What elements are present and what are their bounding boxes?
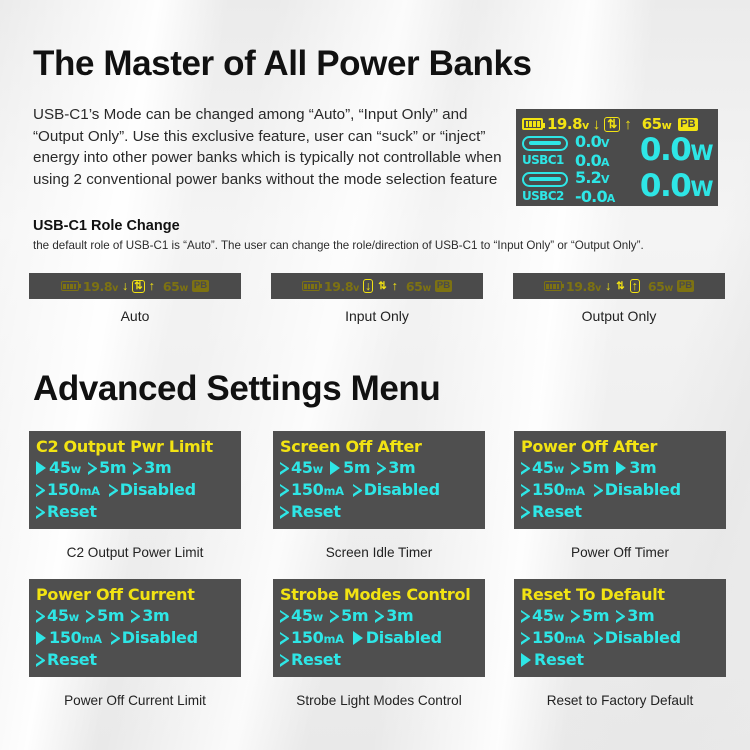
settings-caption-2: Power Off Timer	[500, 545, 740, 560]
menu-option-label: 3m	[386, 605, 413, 627]
menu-option[interactable]: 150mA	[521, 627, 585, 650]
menu-option-label: 150mA	[532, 627, 585, 650]
option-row: 45w5m3m	[280, 457, 478, 479]
menu-option[interactable]: 5m	[86, 605, 124, 627]
menu-option[interactable]: 3m	[131, 605, 169, 627]
role-watts: 65w	[406, 279, 431, 294]
menu-option[interactable]: 45w	[280, 457, 323, 480]
role-change-note: the default role of USB-C1 is “Auto”. Th…	[33, 239, 723, 252]
selected-pointer-icon	[521, 653, 531, 667]
pointer-icon	[594, 484, 602, 497]
menu-option-label: 5m	[343, 457, 370, 479]
menu-option[interactable]: 3m	[133, 457, 171, 479]
lcd-port-row-usbc1: USBC1 0.0V 0.0A 0.0W	[522, 134, 712, 170]
advanced-settings-title: Advanced Settings Menu	[33, 369, 440, 409]
menu-option[interactable]: 45w	[36, 605, 79, 628]
up-arrow-icon: ↑	[630, 279, 640, 294]
menu-option-label: 5m	[582, 457, 609, 479]
menu-option[interactable]: 150mA	[280, 479, 344, 502]
pointer-icon	[280, 632, 288, 645]
lcd-total-watts: 65w	[642, 115, 672, 133]
pointer-icon	[377, 462, 385, 475]
menu-option[interactable]: Disabled	[109, 479, 196, 501]
menu-option-label: 5m	[97, 605, 124, 627]
menu-option[interactable]: 5m	[330, 605, 368, 627]
menu-option-label: 3m	[144, 457, 171, 479]
pointer-icon	[571, 610, 579, 623]
settings-card-0[interactable]: C2 Output Pwr Limit45w5m3m150mADisabledR…	[29, 431, 241, 529]
card-option-rows: 45w5m3m150mADisabledReset	[36, 605, 234, 671]
pointer-icon	[36, 654, 44, 667]
down-arrow-icon: ↓	[593, 117, 601, 132]
pointer-icon	[36, 484, 44, 497]
option-row: 150mADisabled	[280, 479, 478, 501]
pointer-icon	[521, 506, 529, 519]
settings-card-5[interactable]: Reset To Default45w5m3m150mADisabledRese…	[514, 579, 726, 677]
option-row: 45w5m3m	[521, 457, 719, 479]
settings-caption-0: C2 Output Power Limit	[15, 545, 255, 560]
menu-option-label: 45w	[49, 457, 81, 480]
battery-icon	[61, 281, 79, 291]
menu-option[interactable]: 5m	[330, 457, 370, 479]
menu-option[interactable]: 45w	[521, 457, 564, 480]
menu-option[interactable]: 150mA	[521, 479, 585, 502]
pointer-icon	[521, 484, 529, 497]
menu-option-label: Disabled	[605, 479, 681, 501]
role-mode-label-input: Input Only	[271, 308, 483, 324]
down-arrow-icon: ↓	[363, 279, 373, 294]
menu-option[interactable]: 3m	[377, 457, 415, 479]
selected-pointer-icon	[36, 461, 46, 475]
menu-option-label: 45w	[532, 457, 564, 480]
menu-option-label: 3m	[627, 605, 654, 627]
card-option-rows: 45w5m3m150mADisabledReset	[36, 457, 234, 523]
lcd-status-bar: 19.8v ↓ ⇅ ↑ 65w PB	[522, 114, 712, 134]
menu-option-label: 150mA	[291, 627, 344, 650]
settings-caption-3: Power Off Current Limit	[15, 693, 255, 708]
role-mode-lcd-input: 19.8v↓⇅↑65wPB	[271, 273, 483, 299]
menu-option-label: 5m	[582, 605, 609, 627]
option-row: 150mADisabled	[36, 627, 234, 649]
menu-option[interactable]: Reset	[36, 501, 97, 523]
menu-option-label: 150mA	[291, 479, 344, 502]
pointer-icon	[375, 610, 383, 623]
option-row: 150mADisabled	[521, 627, 719, 649]
option-row: Reset	[36, 649, 234, 671]
pointer-icon	[280, 484, 288, 497]
menu-option[interactable]: 150mA	[280, 627, 344, 650]
menu-option[interactable]: 45w	[280, 605, 323, 628]
menu-option[interactable]: Disabled	[111, 627, 198, 649]
option-row: 150mADisabled	[280, 627, 478, 649]
pointer-icon	[109, 484, 117, 497]
menu-option[interactable]: Reset	[280, 649, 341, 671]
menu-option-label: 150mA	[47, 479, 100, 502]
role-voltage: 19.8v	[324, 279, 359, 294]
role-watts: 65w	[648, 279, 673, 294]
pointer-icon	[36, 610, 44, 623]
option-row: Reset	[521, 649, 719, 671]
usbc1-volt-amp: 0.0V 0.0A	[575, 133, 633, 171]
role-voltage: 19.8v	[566, 279, 601, 294]
pointer-icon	[88, 462, 96, 475]
menu-option[interactable]: 45w	[36, 457, 81, 480]
pb-badge: PB	[678, 118, 697, 131]
menu-option[interactable]: Reset	[280, 501, 341, 523]
bidirectional-icon: ⇅	[132, 280, 144, 293]
lcd-input-voltage: 19.8v	[547, 115, 589, 133]
battery-icon	[302, 281, 320, 291]
menu-option-label: Disabled	[366, 627, 442, 649]
menu-option[interactable]: Reset	[521, 501, 582, 523]
pointer-icon	[86, 610, 94, 623]
settings-card-4[interactable]: Strobe Modes Control45w5m3m150mADisabled…	[273, 579, 485, 677]
selected-pointer-icon	[36, 631, 46, 645]
selected-pointer-icon	[330, 461, 340, 475]
usbc2-volts: 5.2V	[575, 169, 633, 188]
option-row: 45w5m3m	[36, 605, 234, 627]
pointer-icon	[280, 462, 288, 475]
pointer-icon	[521, 610, 529, 623]
pointer-icon	[594, 632, 602, 645]
settings-caption-5: Reset to Factory Default	[500, 693, 740, 708]
menu-option-label: 150mA	[532, 479, 585, 502]
menu-option-label: 5m	[99, 457, 126, 479]
role-mode-label-output: Output Only	[513, 308, 725, 324]
menu-option-label: 3m	[629, 457, 656, 479]
pointer-icon	[280, 506, 288, 519]
selected-pointer-icon	[616, 461, 626, 475]
menu-option-label: Reset	[291, 501, 341, 523]
pb-badge: PB	[192, 280, 209, 292]
menu-option-label: 3m	[142, 605, 169, 627]
menu-option-label: Reset	[291, 649, 341, 671]
pointer-icon	[330, 610, 338, 623]
menu-option[interactable]: 150mA	[36, 627, 102, 650]
pointer-icon	[571, 462, 579, 475]
role-mode-lcd-output: 19.8v↓⇅↑65wPB	[513, 273, 725, 299]
usbc2-volt-amp: 5.2V -0.0A	[575, 169, 633, 207]
menu-option-label: 5m	[341, 605, 368, 627]
card-option-rows: 45w5m3m150mADisabledReset	[521, 605, 719, 671]
menu-option[interactable]: 3m	[375, 605, 413, 627]
menu-option-label: Disabled	[120, 479, 196, 501]
usbc2-power: 0.0W	[640, 171, 712, 205]
page-title: The Master of All Power Banks	[33, 44, 532, 84]
option-row: 45w5m3m	[521, 605, 719, 627]
menu-option[interactable]: Disabled	[594, 479, 681, 501]
menu-option[interactable]: 5m	[571, 605, 609, 627]
menu-option[interactable]: 3m	[616, 457, 656, 479]
card-title: Power Off Current	[36, 585, 234, 605]
settings-card-1[interactable]: Screen Off After45w5m3m150mADisabledRese…	[273, 431, 485, 529]
pointer-icon	[521, 632, 529, 645]
menu-option-label: Reset	[534, 649, 584, 671]
menu-option[interactable]: 150mA	[36, 479, 100, 502]
menu-option-label: 45w	[47, 605, 79, 628]
menu-option-label: 150mA	[49, 627, 102, 650]
battery-icon	[544, 281, 562, 291]
settings-card-2[interactable]: Power Off After45w5m3m150mADisabledReset	[514, 431, 726, 529]
up-arrow-icon: ↑	[392, 280, 398, 293]
pointer-icon	[353, 484, 361, 497]
role-change-heading: USB-C1 Role Change	[33, 218, 180, 234]
pointer-icon	[36, 506, 44, 519]
menu-option[interactable]: Disabled	[353, 627, 442, 649]
menu-option-label: 3m	[388, 457, 415, 479]
menu-option[interactable]: Disabled	[594, 627, 681, 649]
usbc1-power: 0.0W	[640, 135, 712, 169]
pointer-icon	[616, 610, 624, 623]
menu-option[interactable]: 3m	[616, 605, 654, 627]
menu-option[interactable]: 5m	[571, 457, 609, 479]
down-arrow-icon: ↓	[122, 280, 128, 293]
menu-option[interactable]: Reset	[36, 649, 97, 671]
role-mode-label-auto: Auto	[29, 308, 241, 324]
usbc2-amps: -0.0A	[575, 188, 633, 207]
bidirectional-icon: ⇅	[377, 281, 387, 292]
selected-pointer-icon	[353, 631, 363, 645]
menu-option-label: 45w	[291, 457, 323, 480]
menu-option[interactable]: 45w	[521, 605, 564, 628]
settings-caption-1: Screen Idle Timer	[259, 545, 499, 560]
bidirectional-icon: ⇅	[604, 117, 620, 132]
option-row: Reset	[521, 501, 719, 523]
pointer-icon	[280, 654, 288, 667]
menu-option[interactable]: Disabled	[353, 479, 440, 501]
bidirectional-icon: ⇅	[615, 281, 625, 292]
option-row: 150mADisabled	[521, 479, 719, 501]
pointer-icon	[131, 610, 139, 623]
option-row: Reset	[36, 501, 234, 523]
menu-option-label: Disabled	[605, 627, 681, 649]
hero-paragraph: USB-C1’s Mode can be changed among “Auto…	[33, 104, 503, 190]
menu-option-label: 45w	[532, 605, 564, 628]
up-arrow-icon: ↑	[149, 280, 155, 293]
pointer-icon	[111, 632, 119, 645]
pointer-icon	[280, 610, 288, 623]
usbc1-label: USBC1	[522, 153, 564, 167]
settings-card-3[interactable]: Power Off Current45w5m3m150mADisabledRes…	[29, 579, 241, 677]
pointer-icon	[521, 462, 529, 475]
role-mode-lcd-auto: 19.8v↓⇅↑65wPB	[29, 273, 241, 299]
card-title: Reset To Default	[521, 585, 719, 605]
menu-option[interactable]: 5m	[88, 457, 126, 479]
lcd-port-row-usbc2: USBC2 5.2V -0.0A 0.0W	[522, 170, 712, 206]
menu-option-label: Reset	[47, 649, 97, 671]
main-lcd-display: 19.8v ↓ ⇅ ↑ 65w PB USBC1 0.0V 0.0A 0.0W …	[516, 109, 718, 206]
usb-c-port-icon: USBC1	[522, 136, 570, 169]
usbc1-volts: 0.0V	[575, 133, 633, 152]
role-watts: 65w	[163, 279, 188, 294]
menu-option-label: Disabled	[122, 627, 198, 649]
menu-option-label: 45w	[291, 605, 323, 628]
usb-c-port-icon: USBC2	[522, 172, 570, 205]
battery-icon	[522, 118, 543, 130]
menu-option-label: Reset	[532, 501, 582, 523]
option-row: 45w5m3m	[36, 457, 234, 479]
card-option-rows: 45w5m3m150mADisabledReset	[280, 457, 478, 523]
option-row: Reset	[280, 649, 478, 671]
option-row: 45w5m3m	[280, 605, 478, 627]
menu-option-label: Disabled	[364, 479, 440, 501]
pb-badge: PB	[677, 280, 694, 292]
up-arrow-icon: ↑	[624, 117, 632, 132]
card-option-rows: 45w5m3m150mADisabledReset	[280, 605, 478, 671]
role-voltage: 19.8v	[83, 279, 118, 294]
down-arrow-icon: ↓	[605, 280, 611, 293]
card-title: Power Off After	[521, 437, 719, 457]
settings-caption-4: Strobe Light Modes Control	[259, 693, 499, 708]
usbc2-label: USBC2	[522, 189, 564, 203]
card-title: Screen Off After	[280, 437, 478, 457]
card-title: Strobe Modes Control	[280, 585, 478, 605]
option-row: Reset	[280, 501, 478, 523]
pointer-icon	[133, 462, 141, 475]
card-title: C2 Output Pwr Limit	[36, 437, 234, 457]
option-row: 150mADisabled	[36, 479, 234, 501]
page-root: The Master of All Power Banks USB-C1’s M…	[0, 0, 750, 750]
pb-badge: PB	[435, 280, 452, 292]
card-option-rows: 45w5m3m150mADisabledReset	[521, 457, 719, 523]
menu-option-label: Reset	[47, 501, 97, 523]
menu-option[interactable]: Reset	[521, 649, 584, 671]
